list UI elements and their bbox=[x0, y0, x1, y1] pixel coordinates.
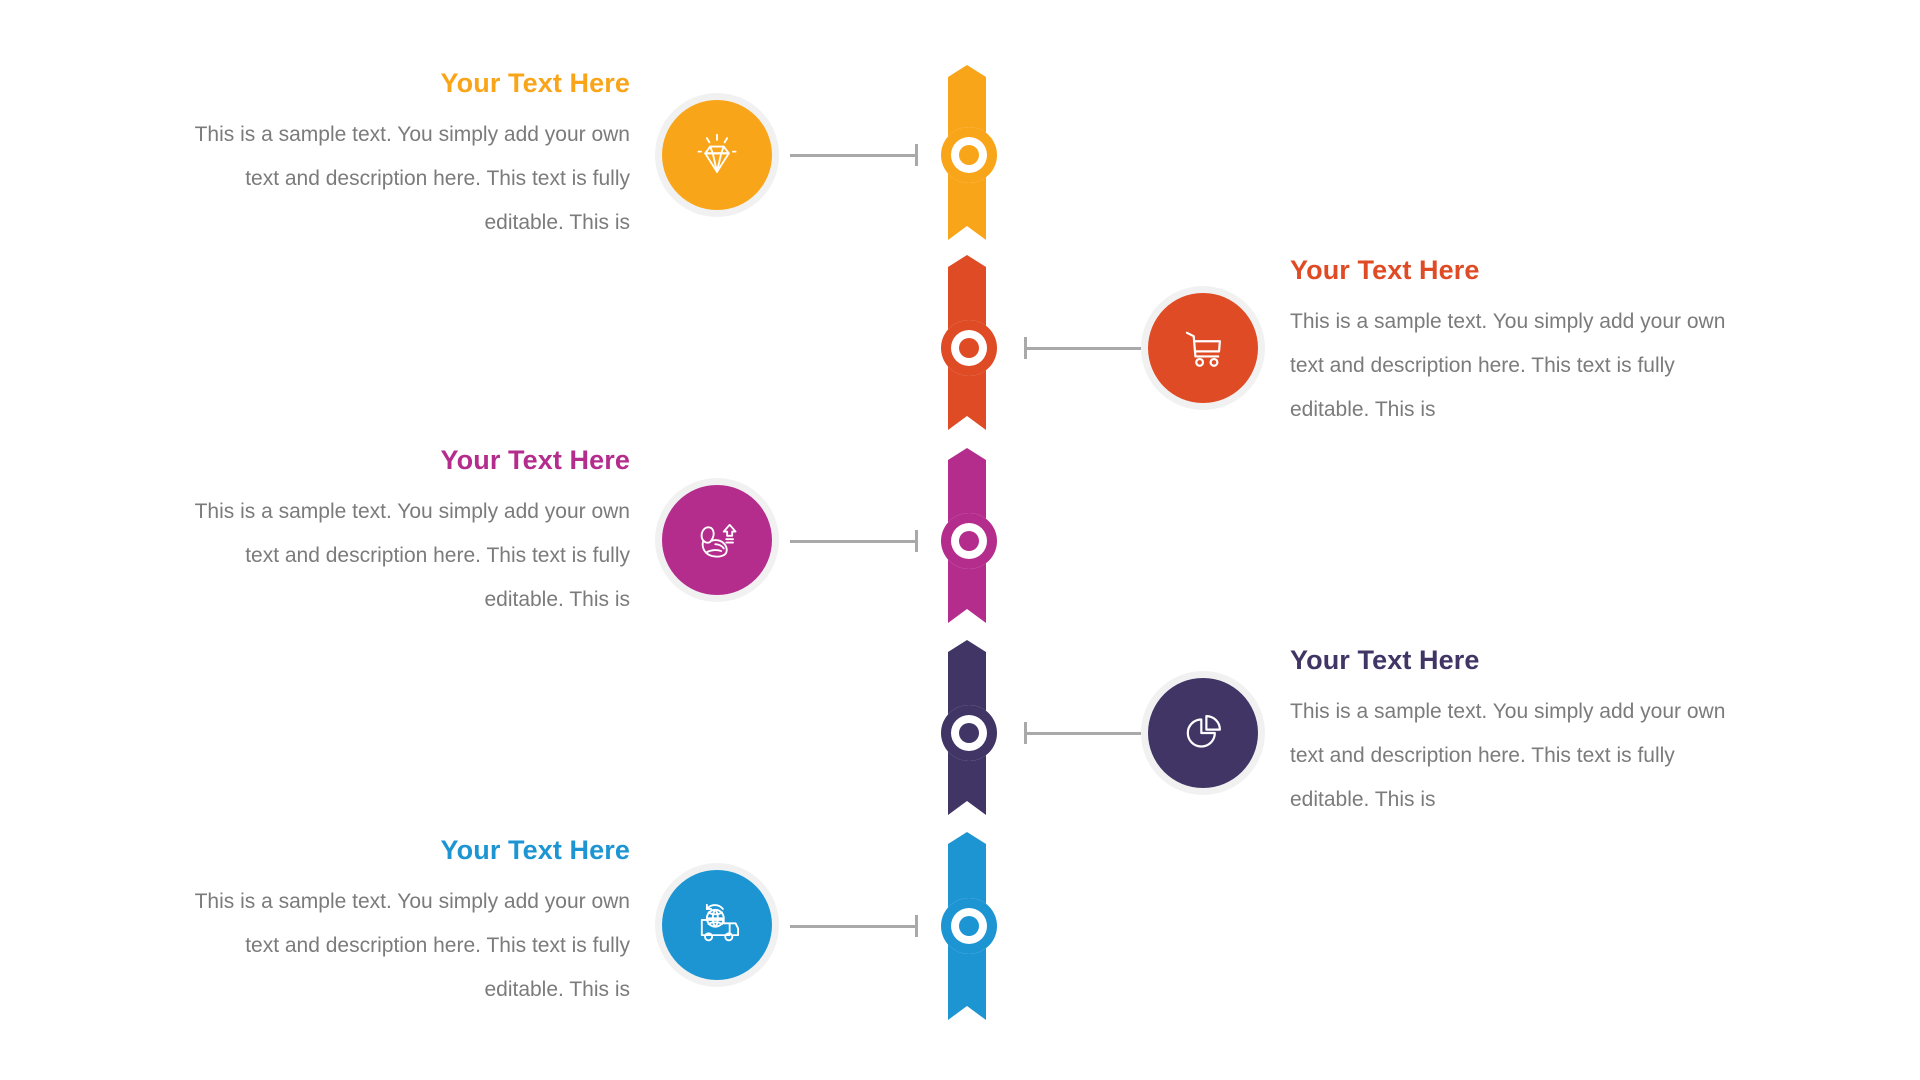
global-delivery-truck-icon bbox=[690, 898, 744, 952]
connector-line bbox=[790, 530, 918, 552]
pie-chart-icon bbox=[1176, 706, 1230, 760]
timeline-marker[interactable] bbox=[941, 898, 997, 954]
step-body: This is a sample text. You simply add yo… bbox=[170, 490, 630, 622]
timeline-marker[interactable] bbox=[941, 127, 997, 183]
step-text-1: Your Text Here This is a sample text. Yo… bbox=[170, 68, 630, 245]
step-icon-bubble-2[interactable] bbox=[1148, 293, 1258, 403]
step-body: This is a sample text. You simply add yo… bbox=[1290, 690, 1750, 822]
step-text-5: Your Text Here This is a sample text. Yo… bbox=[170, 835, 630, 1012]
timeline-marker[interactable] bbox=[941, 705, 997, 761]
step-title: Your Text Here bbox=[170, 835, 630, 866]
timeline-marker[interactable] bbox=[941, 513, 997, 569]
strong-arm-icon bbox=[690, 513, 744, 567]
infographic-timeline: Your Text Here This is a sample text. Yo… bbox=[0, 0, 1920, 1080]
step-body: This is a sample text. You simply add yo… bbox=[170, 113, 630, 245]
step-text-4: Your Text Here This is a sample text. Yo… bbox=[1290, 645, 1750, 822]
step-title: Your Text Here bbox=[170, 68, 630, 99]
shopping-cart-icon bbox=[1176, 321, 1230, 375]
connector-line bbox=[790, 915, 918, 937]
timeline-marker[interactable] bbox=[941, 320, 997, 376]
step-body: This is a sample text. You simply add yo… bbox=[1290, 300, 1750, 432]
connector-line bbox=[1024, 722, 1152, 744]
step-title: Your Text Here bbox=[1290, 255, 1750, 286]
step-text-3: Your Text Here This is a sample text. Yo… bbox=[170, 445, 630, 622]
step-icon-bubble-4[interactable] bbox=[1148, 678, 1258, 788]
step-title: Your Text Here bbox=[170, 445, 630, 476]
step-body: This is a sample text. You simply add yo… bbox=[170, 880, 630, 1012]
connector-line bbox=[1024, 337, 1152, 359]
connector-line bbox=[790, 144, 918, 166]
step-text-2: Your Text Here This is a sample text. Yo… bbox=[1290, 255, 1750, 432]
step-icon-bubble-3[interactable] bbox=[662, 485, 772, 595]
step-icon-bubble-5[interactable] bbox=[662, 870, 772, 980]
step-title: Your Text Here bbox=[1290, 645, 1750, 676]
diamond-icon bbox=[690, 128, 744, 182]
step-icon-bubble-1[interactable] bbox=[662, 100, 772, 210]
